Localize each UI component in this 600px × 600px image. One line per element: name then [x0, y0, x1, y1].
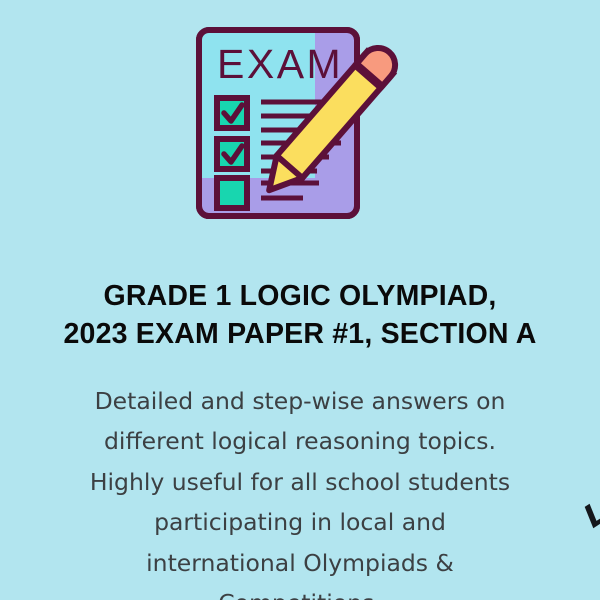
page-description-line-1: Detailed and step-wise answers on: [0, 381, 600, 422]
exam-paper-with-pencil-illustration: EXAM: [0, 18, 600, 233]
exam-illustration-svg: EXAM: [195, 26, 405, 226]
page-title-line-1: GRADE 1 LOGIC OLYMPIAD,: [0, 277, 600, 315]
page-title-line-2: 2023 EXAM PAPER #1, SECTION A: [0, 315, 600, 353]
page-description-line-5: international Olympiads &: [0, 543, 600, 584]
page-description-line-4: participating in local and: [0, 502, 600, 543]
page-description-line-6: Competitions.: [0, 583, 600, 600]
poster-canvas: EXAM: [0, 0, 600, 600]
page-description-line-2: different logical reasoning topics.: [0, 421, 600, 462]
page-title: GRADE 1 LOGIC OLYMPIAD, 2023 EXAM PAPER …: [0, 277, 600, 353]
page-description: Detailed and step-wise answers on differ…: [0, 381, 600, 600]
checkbox-3[interactable]: [217, 178, 247, 208]
exam-heading-text: EXAM: [217, 41, 343, 87]
page-description-line-3: Highly useful for all school students: [0, 462, 600, 503]
